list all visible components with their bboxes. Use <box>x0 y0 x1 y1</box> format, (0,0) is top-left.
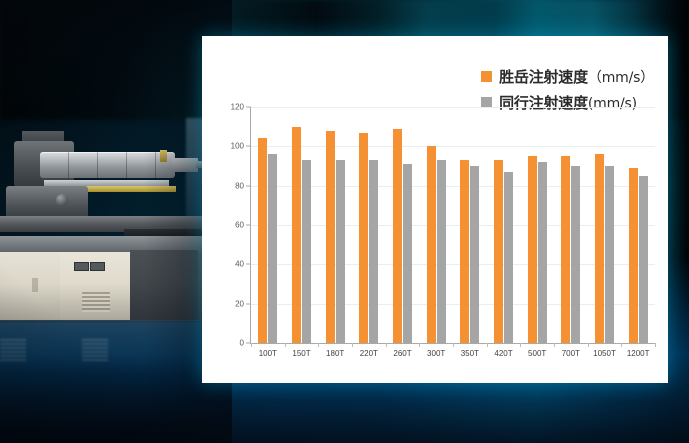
bar-1050T-series0[interactable] <box>595 154 604 343</box>
bar-700T-series1[interactable] <box>571 166 580 343</box>
bar-group-100T[interactable] <box>251 107 285 343</box>
bar-300T-series0[interactable] <box>427 146 436 343</box>
x-axis-tick-mark <box>655 343 656 347</box>
bar-350T-series1[interactable] <box>470 166 479 343</box>
x-axis-tick-mark <box>487 343 488 347</box>
bar-group-260T[interactable] <box>386 107 420 343</box>
bar-group-180T[interactable] <box>318 107 352 343</box>
bar-group-350T[interactable] <box>453 107 487 343</box>
x-axis-label-1050T: 1050T <box>593 349 616 358</box>
bar-420T-series1[interactable] <box>504 172 513 343</box>
x-axis-label-1200T: 1200T <box>627 349 650 358</box>
y-axis-tick-label: 100 <box>202 142 250 151</box>
chart-panel: 胜岳注射速度（mm/s）同行注射速度(mm/s) 020406080100120… <box>202 36 668 383</box>
x-axis-tick-mark <box>352 343 353 347</box>
bar-500T-series0[interactable] <box>528 156 537 343</box>
bar-group-420T[interactable] <box>487 107 521 343</box>
bar-group-700T[interactable] <box>554 107 588 343</box>
bar-100T-series1[interactable] <box>268 154 277 343</box>
x-axis-label-180T: 180T <box>326 349 344 358</box>
chart-plot-wrapper: 胜岳注射速度（mm/s）同行注射速度(mm/s) 020406080100120… <box>202 36 668 383</box>
legend-item-label: 胜岳注射速度（mm/s） <box>499 66 654 87</box>
y-axis-tick-label: 80 <box>202 181 250 190</box>
chart-plot-area <box>251 107 655 343</box>
x-axis-label-420T: 420T <box>494 349 512 358</box>
bar-group-1200T[interactable] <box>621 107 655 343</box>
bar-350T-series0[interactable] <box>460 160 469 343</box>
x-axis-label-700T: 700T <box>562 349 580 358</box>
bar-220T-series1[interactable] <box>369 160 378 343</box>
bar-260T-series1[interactable] <box>403 164 412 343</box>
y-axis-tick-label: 40 <box>202 260 250 269</box>
legend-item-unit: （mm/s） <box>588 70 654 86</box>
bar-group-300T[interactable] <box>419 107 453 343</box>
bar-260T-series0[interactable] <box>393 129 402 343</box>
x-axis-tick-mark <box>520 343 521 347</box>
y-axis-tick-label: 120 <box>202 103 250 112</box>
x-axis-tick-mark <box>588 343 589 347</box>
x-axis-label-350T: 350T <box>461 349 479 358</box>
x-axis-label-220T: 220T <box>360 349 378 358</box>
x-axis-tick-mark <box>386 343 387 347</box>
legend-swatch-icon <box>481 71 492 82</box>
bar-1050T-series1[interactable] <box>605 166 614 343</box>
bar-group-150T[interactable] <box>285 107 319 343</box>
bar-420T-series0[interactable] <box>494 160 503 343</box>
bar-180T-series1[interactable] <box>336 160 345 343</box>
legend-item-0[interactable]: 胜岳注射速度（mm/s） <box>481 66 654 87</box>
x-axis-label-150T: 150T <box>292 349 310 358</box>
bar-220T-series0[interactable] <box>359 133 368 343</box>
y-axis-tick-label: 0 <box>202 339 250 348</box>
x-axis-label-300T: 300T <box>427 349 445 358</box>
x-axis-label-100T: 100T <box>259 349 277 358</box>
x-axis-tick-mark <box>621 343 622 347</box>
x-axis-label-500T: 500T <box>528 349 546 358</box>
bar-group-220T[interactable] <box>352 107 386 343</box>
bar-300T-series1[interactable] <box>437 160 446 343</box>
screenshot-stage: 胜岳注射速度（mm/s）同行注射速度(mm/s) 020406080100120… <box>0 0 689 443</box>
y-axis-tick-label: 20 <box>202 299 250 308</box>
x-axis-tick-mark <box>318 343 319 347</box>
bar-500T-series1[interactable] <box>538 162 547 343</box>
bar-1200T-series1[interactable] <box>639 176 648 343</box>
bar-100T-series0[interactable] <box>258 138 267 343</box>
bar-700T-series0[interactable] <box>561 156 570 343</box>
x-axis-tick-mark <box>285 343 286 347</box>
x-axis-label-260T: 260T <box>393 349 411 358</box>
bar-150T-series0[interactable] <box>292 127 301 343</box>
x-axis-tick-mark <box>554 343 555 347</box>
bar-group-1050T[interactable] <box>588 107 622 343</box>
y-axis-tick-label: 60 <box>202 221 250 230</box>
x-axis-tick-mark <box>453 343 454 347</box>
bar-group-500T[interactable] <box>520 107 554 343</box>
x-axis-tick-mark <box>419 343 420 347</box>
bar-150T-series1[interactable] <box>302 160 311 343</box>
bar-180T-series0[interactable] <box>326 131 335 343</box>
bar-1200T-series0[interactable] <box>629 168 638 343</box>
x-axis-tick-mark <box>251 343 252 347</box>
